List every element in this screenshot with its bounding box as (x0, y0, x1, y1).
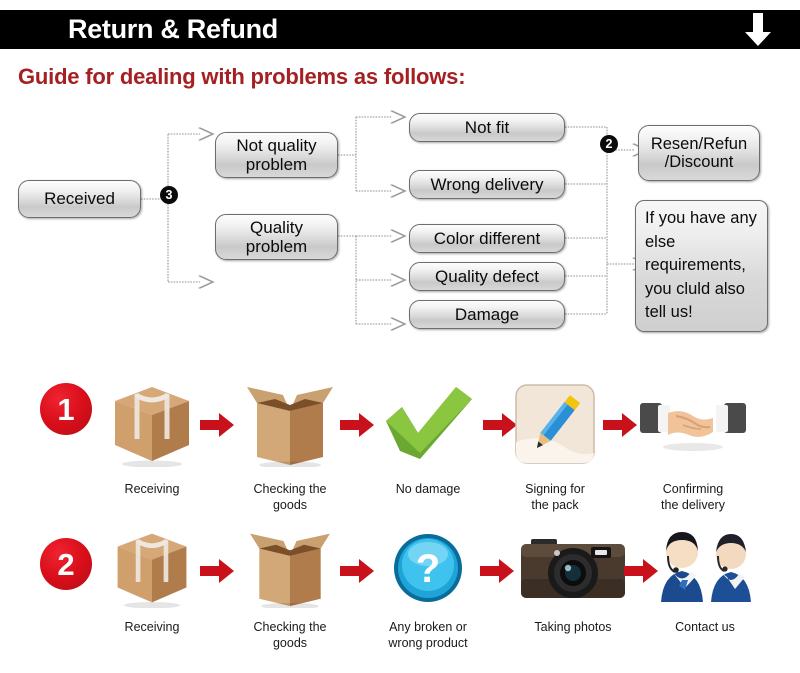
flow-node-extra-requirements-note: If you have any else requirements, you c… (635, 200, 768, 332)
svg-text:?: ? (416, 547, 440, 591)
process-step-no-damage[interactable]: No damage (378, 378, 478, 498)
question-mark-orb-icon: ? (376, 528, 480, 608)
pencil-signing-icon (505, 378, 605, 470)
red-arrow-icon (200, 412, 234, 438)
handshake-icon (638, 378, 748, 470)
flow-node-resend-refund-discount[interactable]: Resen/Refun /Discount (638, 125, 760, 181)
flow-node-not-fit[interactable]: Not fit (409, 113, 565, 142)
flow-node-quality-defect[interactable]: Quality defect (409, 262, 565, 291)
page-title: Return & Refund (68, 11, 278, 48)
process-step-checking-goods[interactable]: Checking the goods (240, 378, 340, 513)
subtitle: Guide for dealing with problems as follo… (18, 64, 465, 90)
step-caption: Taking photos (514, 620, 632, 636)
camera-icon (514, 528, 632, 608)
step-number-badge-2: 2 (40, 538, 92, 590)
process-step-checking-goods[interactable]: Checking the goods (240, 528, 340, 651)
closed-box-icon (102, 378, 202, 470)
process-step-contact-us[interactable]: Contact us (655, 528, 755, 636)
red-arrow-icon (340, 412, 374, 438)
green-check-icon (378, 378, 478, 470)
process-step-confirming-delivery[interactable]: Confirming the delivery (638, 378, 748, 513)
red-arrow-icon (603, 412, 637, 438)
step-number-badge-1: 1 (40, 383, 92, 435)
step-caption: Confirming the delivery (638, 482, 748, 513)
process-step-receiving[interactable]: Receiving (102, 378, 202, 498)
step-caption: Any broken or wrong product (376, 620, 480, 651)
process-row-2: 2 Receiving C (0, 528, 800, 668)
red-arrow-icon (200, 558, 234, 584)
process-row-1: 1 Receiving (0, 378, 800, 523)
red-arrow-icon (624, 558, 658, 584)
flow-node-color-different[interactable]: Color different (409, 224, 565, 253)
red-arrow-icon (340, 558, 374, 584)
flow-node-damage[interactable]: Damage (409, 300, 565, 329)
process-step-signing[interactable]: Signing for the pack (505, 378, 605, 513)
flow-node-quality-problem[interactable]: Quality problem (215, 214, 338, 260)
down-arrow-icon (742, 13, 774, 46)
step-caption: Contact us (655, 620, 755, 636)
step-caption: Receiving (102, 620, 202, 636)
flow-node-received[interactable]: Received (18, 180, 141, 218)
flow-node-not-quality-problem[interactable]: Not quality problem (215, 132, 338, 178)
red-arrow-icon (480, 558, 514, 584)
step-caption: Receiving (102, 482, 202, 498)
support-agents-icon (655, 528, 755, 608)
open-box-icon (240, 378, 340, 470)
flow-node-wrong-delivery[interactable]: Wrong delivery (409, 170, 565, 199)
badge-2: 2 (600, 135, 618, 153)
flowchart: Received 3 Not quality problem Quality p… (0, 104, 800, 344)
process-step-broken-or-wrong[interactable]: ? Any broken or wrong product (376, 528, 480, 651)
step-caption: Signing for the pack (505, 482, 605, 513)
step-caption: Checking the goods (240, 482, 340, 513)
process-step-taking-photos[interactable]: Taking photos (514, 528, 632, 636)
badge-3: 3 (160, 186, 178, 204)
open-box-icon (240, 528, 340, 608)
closed-box-icon (102, 528, 202, 608)
process-step-receiving[interactable]: Receiving (102, 528, 202, 636)
step-caption: Checking the goods (240, 620, 340, 651)
step-caption: No damage (378, 482, 478, 498)
